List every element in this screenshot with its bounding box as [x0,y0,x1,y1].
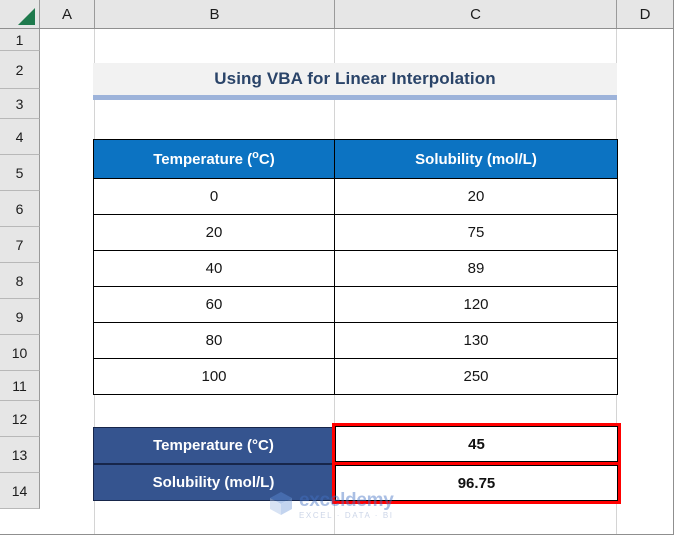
row-header-11[interactable]: 11 [0,371,40,401]
cell-solubility[interactable]: 20 [335,179,618,215]
row-header-9[interactable]: 9 [0,299,40,335]
row-header-2[interactable]: 2 [0,51,40,89]
temperature-header-unit: C) [259,151,275,168]
result-solubility-value[interactable]: 96.75 [335,465,618,501]
column-header-temperature: Temperature (oC) [94,140,335,179]
row-header-column: 1 2 3 4 5 6 7 8 9 10 11 12 13 14 [0,29,40,509]
table-header-row: Temperature (oC) Solubility (mol/L) [94,140,618,179]
column-header-b[interactable]: B [95,0,335,28]
table-row: 40 89 [94,251,618,287]
cell-solubility[interactable]: 130 [335,323,618,359]
row-header-13[interactable]: 13 [0,437,40,473]
result-temperature-label: Temperature (°C) [93,427,334,464]
interpolation-data-table: Temperature (oC) Solubility (mol/L) 0 20… [93,139,618,395]
result-solubility-output-highlight[interactable]: 96.75 [332,462,621,504]
row-header-4[interactable]: 4 [0,119,40,155]
cell-temperature[interactable]: 0 [94,179,335,215]
cell-temperature[interactable]: 100 [94,359,335,395]
select-all-button[interactable] [0,0,40,28]
table-row: 80 130 [94,323,618,359]
cell-temperature[interactable]: 60 [94,287,335,323]
sheet-title-banner: Using VBA for Linear Interpolation [93,63,617,100]
row-header-8[interactable]: 8 [0,263,40,299]
row-header-10[interactable]: 10 [0,335,40,371]
table-row: 0 20 [94,179,618,215]
column-header-row: A B C D [0,0,674,29]
result-temperature-value[interactable]: 45 [335,426,618,462]
row-header-6[interactable]: 6 [0,191,40,227]
row-header-14[interactable]: 14 [0,473,40,509]
cell-temperature[interactable]: 80 [94,323,335,359]
cell-temperature[interactable]: 20 [94,215,335,251]
temperature-header-text: Temperature ( [153,151,252,168]
cell-solubility[interactable]: 89 [335,251,618,287]
table-row: 20 75 [94,215,618,251]
row-header-3[interactable]: 3 [0,89,40,119]
row-header-5[interactable]: 5 [0,155,40,191]
row-header-1[interactable]: 1 [0,29,40,51]
column-header-c[interactable]: C [335,0,617,28]
cell-solubility[interactable]: 75 [335,215,618,251]
row-header-7[interactable]: 7 [0,227,40,263]
cell-solubility[interactable]: 250 [335,359,618,395]
result-temperature-input-highlight[interactable]: 45 [332,423,621,465]
column-header-d[interactable]: D [617,0,674,28]
table-row: 60 120 [94,287,618,323]
result-solubility-label: Solubility (mol/L) [93,464,334,501]
select-all-triangle-icon [18,8,35,25]
degree-symbol-icon: o [252,149,259,161]
table-row: 100 250 [94,359,618,395]
column-header-solubility: Solubility (mol/L) [335,140,618,179]
cell-solubility[interactable]: 120 [335,287,618,323]
row-header-12[interactable]: 12 [0,401,40,437]
spreadsheet-canvas: A B C D 1 2 3 4 5 6 7 8 9 10 11 12 13 14… [0,0,674,535]
cell-temperature[interactable]: 40 [94,251,335,287]
column-header-a[interactable]: A [40,0,95,28]
page-title: Using VBA for Linear Interpolation [214,69,495,89]
